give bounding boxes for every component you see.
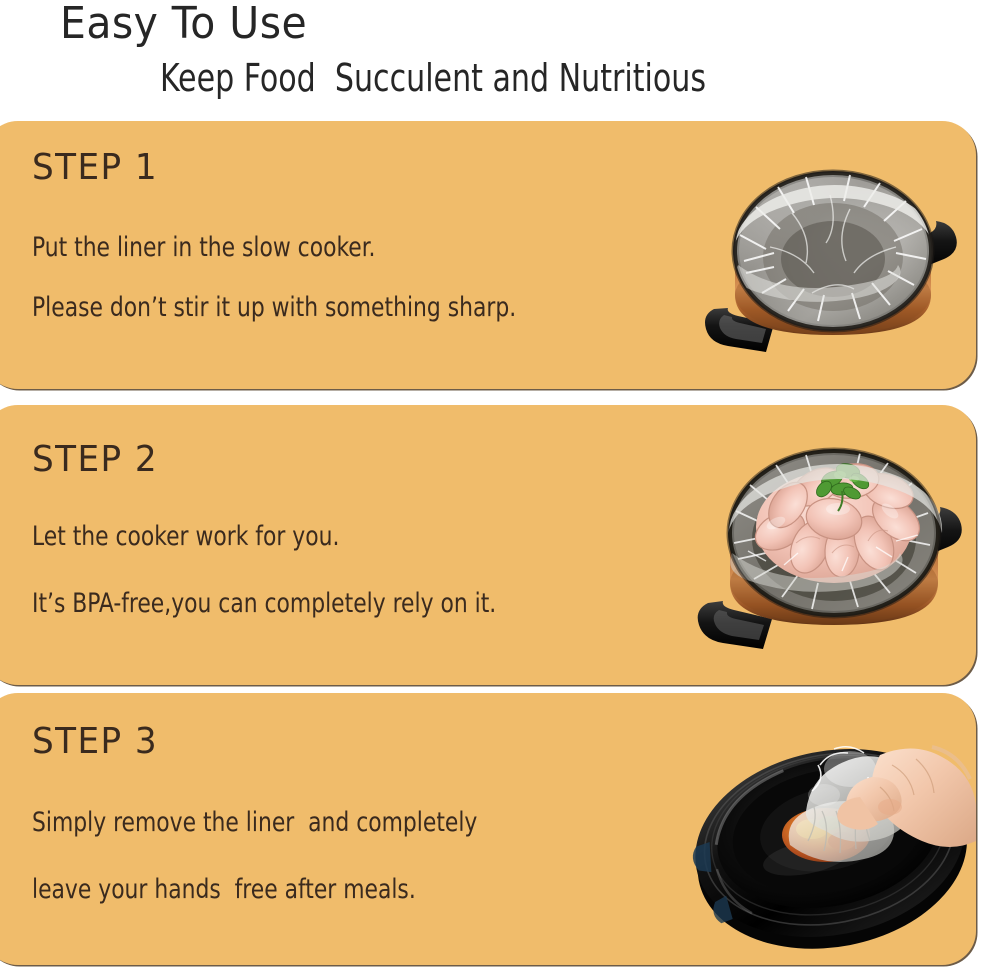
step-2-line-1: Let the cooker work for you.: [32, 521, 339, 552]
step-panel-1: STEP 1 Put the liner in the slow cooker.…: [0, 121, 976, 389]
step-3-title: STEP 3: [32, 721, 158, 762]
step-2-title: STEP 2: [32, 439, 158, 480]
step-2-line-2: It’s BPA-free,you can completely rely on…: [32, 588, 496, 619]
step-1-line-2: Please don’t stir it up with something s…: [32, 292, 516, 323]
step-panel-2: STEP 2 Let the cooker work for you. It’s…: [0, 405, 976, 685]
cooker-with-chicken-photo: [692, 423, 974, 685]
header: Easy To Use Keep Food Succulent and Nutr…: [0, 0, 994, 112]
step-3-line-2: leave your hands free after meals.: [32, 874, 416, 905]
removing-liner-photo: [684, 703, 976, 965]
step-1-title: STEP 1: [32, 147, 158, 188]
page-subtitle: Keep Food Succulent and Nutritious: [160, 56, 706, 100]
slow-cooker-with-liner-photo: [700, 143, 970, 389]
page-title: Easy To Use: [60, 0, 307, 49]
step-1-line-1: Put the liner in the slow cooker.: [32, 232, 375, 263]
step-panel-3: STEP 3 Simply remove the liner and compl…: [0, 693, 976, 965]
step-3-line-1: Simply remove the liner and completely: [32, 807, 477, 838]
